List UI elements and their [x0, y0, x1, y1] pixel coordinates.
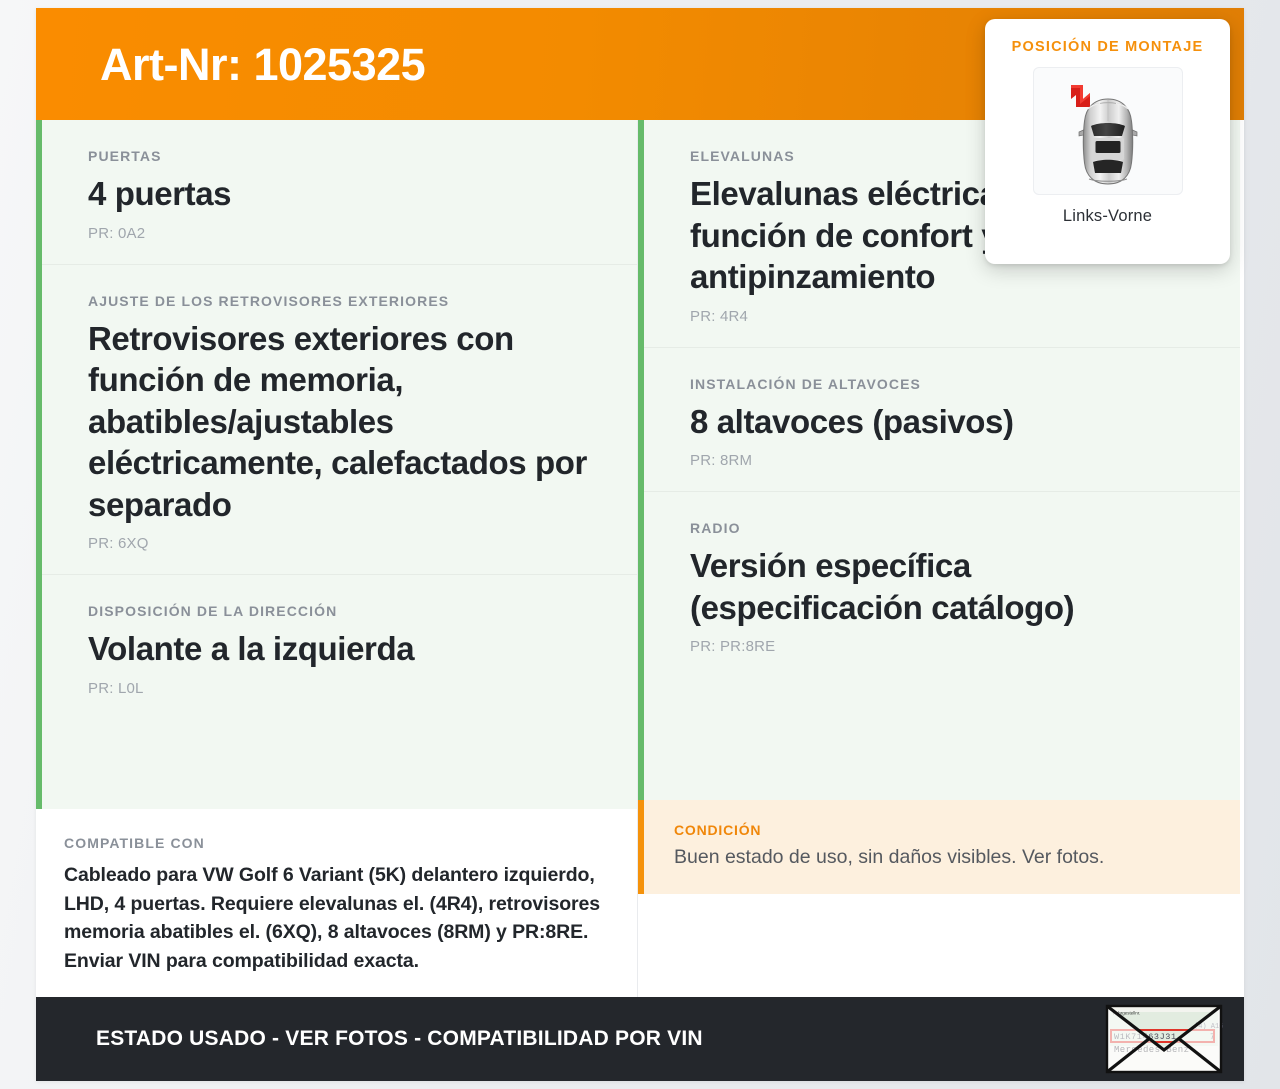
spec-value: 4 puertas	[88, 173, 591, 215]
spec-pr-code: PR: 8RM	[690, 452, 1194, 469]
condition-text: Buen estado de uso, sin daños visibles. …	[674, 845, 1210, 870]
compatible-with-text: Cableado para VW Golf 6 Variant (5K) del…	[64, 861, 609, 975]
left-spec-stack: PUERTAS 4 puertas PR: 0A2 AJUSTE DE LOS …	[36, 120, 637, 809]
spec-label: AJUSTE DE LOS RETROVISORES EXTERIORES	[88, 293, 591, 309]
spec-row-speakers: INSTALACIÓN DE ALTAVOCES 8 altavoces (pa…	[644, 348, 1240, 493]
spec-pr-code: PR: 4R4	[690, 308, 1194, 325]
spec-row-steering: DISPOSICIÓN DE LA DIRECCIÓN Volante a la…	[42, 575, 637, 719]
condition-label: CONDICIÓN	[674, 822, 1210, 838]
car-top-view-with-arrow-icon	[1033, 67, 1183, 195]
spec-row-doors: PUERTAS 4 puertas PR: 0A2	[42, 120, 637, 265]
spec-label: INSTALACIÓN DE ALTAVOCES	[690, 376, 1194, 392]
compatible-with-label: COMPATIBLE CON	[64, 835, 609, 851]
envelope-vin-document-icon: Fahrgestellnr. (4) A16 W1K71463J31 7 Mer…	[1098, 1000, 1230, 1078]
mounting-position-card: POSICIÓN DE MONTAJE	[985, 19, 1230, 264]
footer-text: ESTADO USADO - VER FOTOS - COMPATIBILIDA…	[96, 1027, 703, 1051]
spec-row-radio: RADIO Versión específica (especificación…	[644, 492, 1240, 677]
spec-label: PUERTAS	[88, 148, 591, 164]
spec-value: Versión específica (especificación catál…	[690, 545, 1194, 628]
spec-value: Retrovisores exteriores con función de m…	[88, 318, 591, 526]
spec-row-mirrors: AJUSTE DE LOS RETROVISORES EXTERIORES Re…	[42, 265, 637, 576]
mounting-position-caption: Links-Vorne	[1001, 207, 1214, 226]
compatible-with-block: COMPATIBLE CON Cableado para VW Golf 6 V…	[36, 809, 637, 997]
spec-label: RADIO	[690, 520, 1194, 536]
spec-pr-code: PR: 6XQ	[88, 535, 591, 552]
mounting-position-title: POSICIÓN DE MONTAJE	[1001, 39, 1214, 55]
page-title: Art-Nr: 1025325	[100, 42, 425, 87]
spec-value: Volante a la izquierda	[88, 628, 591, 670]
left-column: PUERTAS 4 puertas PR: 0A2 AJUSTE DE LOS …	[36, 120, 638, 997]
right-column-filler	[638, 894, 1240, 997]
footer-bar: ESTADO USADO - VER FOTOS - COMPATIBILIDA…	[36, 997, 1244, 1081]
spec-pr-code: PR: L0L	[88, 680, 591, 697]
condition-block: CONDICIÓN Buen estado de uso, sin daños …	[638, 800, 1240, 894]
spec-pr-code: PR: 0A2	[88, 225, 591, 242]
spec-pr-code: PR: PR:8RE	[690, 638, 1194, 655]
spec-value: 8 altavoces (pasivos)	[690, 401, 1194, 443]
spec-label: DISPOSICIÓN DE LA DIRECCIÓN	[88, 603, 591, 619]
